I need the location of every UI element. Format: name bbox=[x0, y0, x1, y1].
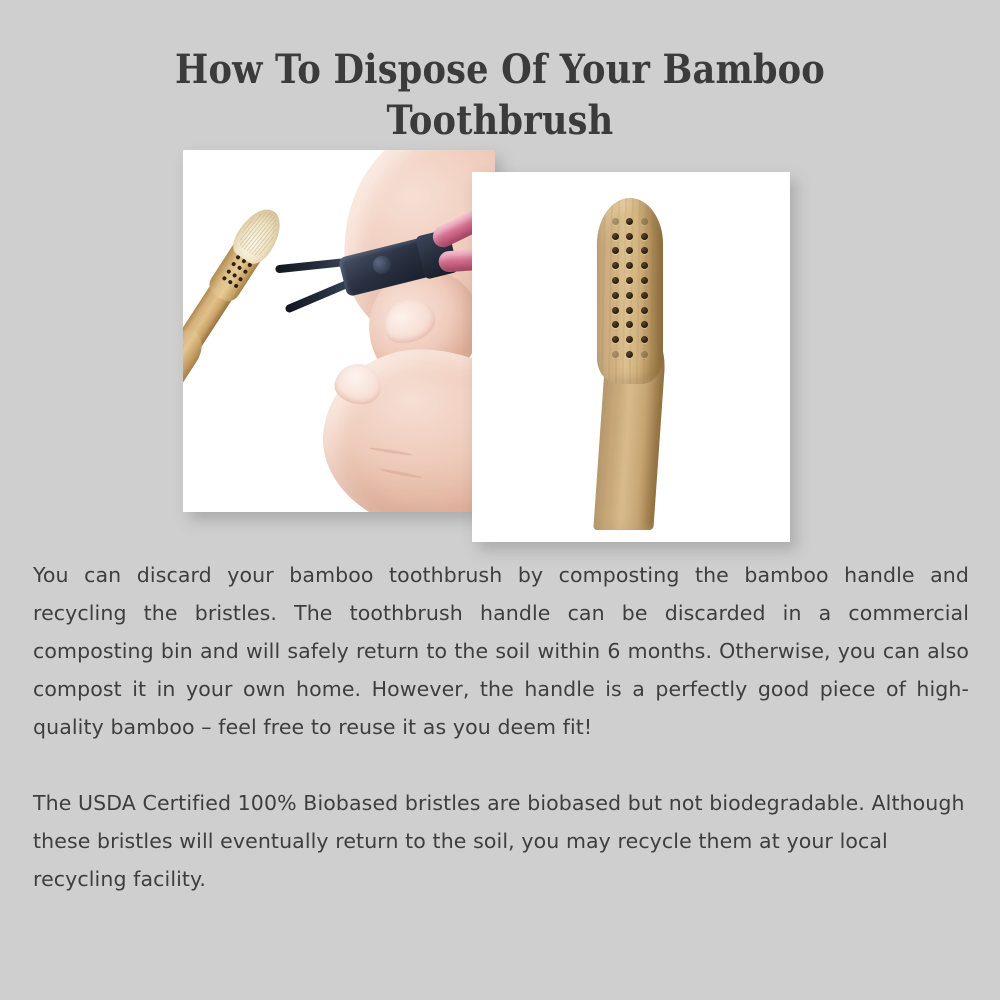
bristle-hole bbox=[626, 307, 633, 314]
bristle-hole bbox=[612, 247, 619, 254]
bristle-hole bbox=[237, 265, 243, 271]
pliers-head bbox=[338, 236, 437, 297]
bristle-hole bbox=[231, 261, 237, 267]
bare-bamboo-toothbrush bbox=[589, 198, 671, 528]
bamboo-toothbrush bbox=[183, 231, 406, 512]
bare-bristle-holes bbox=[608, 214, 652, 362]
bristle-hole bbox=[612, 292, 619, 299]
page-title-text: How To Dispose Of Your Bamboo Toothbrush bbox=[174, 44, 825, 146]
lower-hand bbox=[317, 343, 495, 512]
photo-bare-toothbrush-head bbox=[472, 172, 790, 542]
toothbrush-handle bbox=[183, 238, 263, 430]
paragraph-2: The USDA Certified 100% Biobased bristle… bbox=[33, 784, 969, 898]
bare-toothbrush-head bbox=[597, 198, 663, 384]
pliers-grip-lower bbox=[438, 244, 495, 273]
bristle-hole bbox=[612, 307, 619, 314]
bristle-hole bbox=[641, 321, 648, 328]
bristle-hole bbox=[641, 218, 648, 225]
finger-crease bbox=[369, 447, 413, 457]
toothbrush-handle-grip bbox=[183, 323, 210, 409]
bristle-hole bbox=[612, 277, 619, 284]
bristle-hole bbox=[241, 258, 247, 264]
pliers-neck bbox=[415, 229, 459, 280]
article-body: You can discard your bamboo toothbrush b… bbox=[33, 556, 969, 898]
bristle-hole bbox=[641, 351, 648, 358]
bristle-hole bbox=[626, 233, 633, 240]
bristle-hole bbox=[612, 351, 619, 358]
bristle-hole bbox=[238, 276, 244, 282]
pliers-lower-jaw bbox=[284, 277, 355, 313]
bristle-hole bbox=[612, 218, 619, 225]
bristle-hole bbox=[243, 269, 249, 275]
bristle-hole bbox=[612, 262, 619, 269]
bristle-hole bbox=[612, 336, 619, 343]
finger-crease bbox=[379, 468, 423, 479]
bristle-hole bbox=[626, 247, 633, 254]
photo-left-canvas bbox=[183, 150, 495, 512]
photo-pliers-removing-bristles bbox=[183, 150, 495, 512]
lower-thumb-nail bbox=[332, 360, 384, 407]
toothbrush-head bbox=[205, 230, 270, 306]
bristle-hole bbox=[641, 307, 648, 314]
page-title: How To Dispose Of Your Bamboo Toothbrush bbox=[130, 44, 870, 146]
upper-thumb-nail bbox=[377, 292, 441, 350]
bare-toothbrush-neck bbox=[593, 338, 666, 530]
bristle-hole bbox=[234, 283, 240, 289]
bristle-hole bbox=[641, 233, 648, 240]
needle-nose-pliers bbox=[290, 192, 495, 364]
bristle-hole bbox=[626, 277, 633, 284]
bristle-hole bbox=[232, 272, 238, 278]
pliers-grip-upper bbox=[429, 180, 495, 251]
bristle-hole bbox=[247, 262, 253, 268]
photo-right-canvas bbox=[472, 172, 790, 542]
bristle-hole bbox=[612, 233, 619, 240]
bristle-hole bbox=[612, 321, 619, 328]
bristle-hole bbox=[626, 292, 633, 299]
bristle-hole bbox=[626, 262, 633, 269]
paragraph-1: You can discard your bamboo toothbrush b… bbox=[33, 556, 969, 746]
toothbrush-bristles bbox=[227, 201, 289, 269]
bristle-hole bbox=[641, 336, 648, 343]
bristle-hole bbox=[222, 275, 228, 281]
bristle-hole bbox=[626, 218, 633, 225]
upper-hand bbox=[332, 150, 495, 364]
pliers-pivot bbox=[371, 254, 393, 276]
toothbrush-bristle-holes bbox=[220, 255, 254, 293]
bristle-hole bbox=[626, 321, 633, 328]
bristle-hole bbox=[235, 255, 241, 261]
bristle-hole bbox=[626, 336, 633, 343]
bristle-hole bbox=[641, 277, 648, 284]
bristle-hole bbox=[228, 279, 234, 285]
bristle-hole bbox=[641, 292, 648, 299]
bristle-hole bbox=[626, 351, 633, 358]
pliers-upper-jaw bbox=[275, 258, 349, 274]
bristle-hole bbox=[641, 262, 648, 269]
upper-hand-thumb bbox=[354, 256, 495, 401]
article-page: How To Dispose Of Your Bamboo Toothbrush bbox=[0, 0, 1000, 1000]
bristle-hole bbox=[641, 247, 648, 254]
bristle-hole bbox=[226, 268, 232, 274]
